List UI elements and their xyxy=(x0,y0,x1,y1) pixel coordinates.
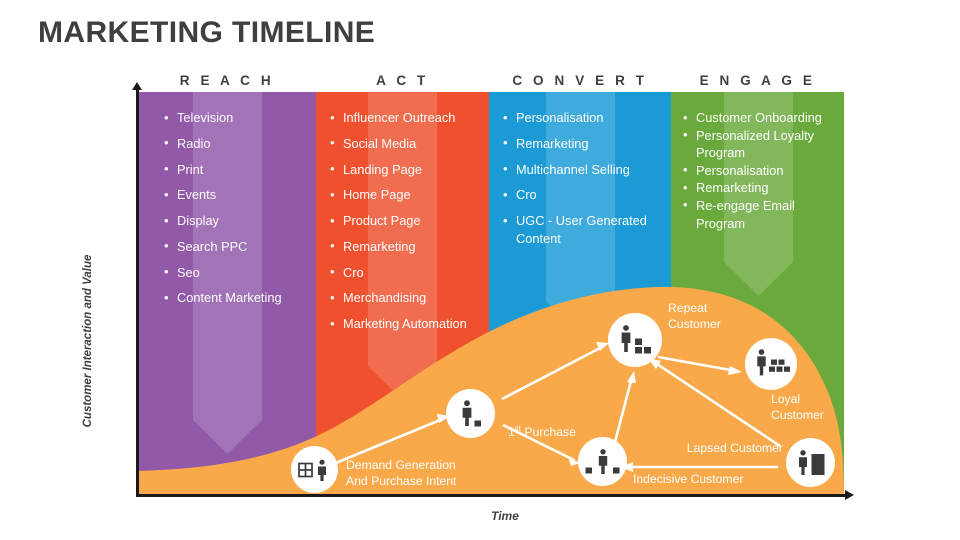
list-item: Landing Page xyxy=(330,161,495,179)
stage-header-engage: E N G A G E xyxy=(671,73,844,88)
list-item: Influencer Outreach xyxy=(330,109,495,127)
list-item: Customer Onboarding xyxy=(683,109,823,127)
list-item: Social Media xyxy=(330,135,495,153)
journey-node-demand[interactable] xyxy=(291,446,338,493)
stage-list-convert: Personalisation Remarketing Multichannel… xyxy=(503,109,661,256)
list-item: Remarketing xyxy=(503,135,661,153)
list-item: Marketing Automation xyxy=(330,315,495,333)
stage-header-reach: R E A C H xyxy=(138,73,316,88)
stage-list-reach: Television Radio Print Events Display Se… xyxy=(164,109,314,315)
journey-label-indecisive: Indecisive Customer xyxy=(633,472,803,488)
journey-node-loyal[interactable] xyxy=(745,338,797,390)
list-item: Remarketing xyxy=(330,238,495,256)
journey-label-loyal: Loyal Customer xyxy=(771,392,866,423)
list-item: Merchandising xyxy=(330,289,495,307)
list-item: Display xyxy=(164,212,314,230)
list-item: Content Marketing xyxy=(164,289,314,307)
stage-list-act: Influencer Outreach Social Media Landing… xyxy=(330,109,495,341)
x-axis-line xyxy=(136,494,848,497)
journey-node-indecisive[interactable] xyxy=(578,437,627,486)
list-item: Print xyxy=(164,161,314,179)
journey-label-purchase: 1st Purchase xyxy=(508,405,638,440)
list-item: Events xyxy=(164,186,314,204)
list-item: Re-engage Email Program xyxy=(683,197,823,232)
y-axis-arrow xyxy=(132,82,142,90)
person-two-boxes-icon xyxy=(584,448,622,476)
person-box-pyramid-icon xyxy=(752,348,790,380)
list-item: UGC - User Generated Content xyxy=(503,212,661,247)
list-item: Product Page xyxy=(330,212,495,230)
list-item: Remarketing xyxy=(683,179,823,197)
journey-label-lapsed: Lapsed Customer xyxy=(673,441,783,457)
purchase-word: Purchase xyxy=(521,425,576,439)
x-axis-arrow xyxy=(845,490,854,500)
list-item: Home Page xyxy=(330,186,495,204)
stage-header-convert: C O N V E R T xyxy=(489,73,671,88)
purchase-number: 1 xyxy=(508,425,515,439)
x-axis-label: Time xyxy=(0,509,960,523)
journey-label-repeat: Repeat Customer xyxy=(668,301,763,332)
list-item: Personalisation xyxy=(683,162,823,180)
journey-node-repeat[interactable] xyxy=(608,313,662,367)
list-item: Seo xyxy=(164,264,314,282)
journey-label-demand: Demand Generation And Purchase Intent xyxy=(346,458,526,489)
stage-list-engage: Customer Onboarding Personalized Loyalty… xyxy=(683,109,823,232)
person-one-box-icon xyxy=(454,399,488,429)
list-item: Television xyxy=(164,109,314,127)
stage-header-act: A C T xyxy=(316,73,489,88)
page-title: MARKETING TIMELINE xyxy=(38,16,375,50)
journey-node-purchase[interactable] xyxy=(446,389,495,438)
list-item: Cro xyxy=(330,264,495,282)
list-item: Search PPC xyxy=(164,238,314,256)
list-item: Personalisation xyxy=(503,109,661,127)
person-three-boxes-icon xyxy=(615,324,655,356)
list-item: Personalized Loyalty Program xyxy=(683,127,823,162)
person-window-icon xyxy=(298,458,332,482)
list-item: Multichannel Selling xyxy=(503,161,661,179)
y-axis-label: Customer Interaction and Value xyxy=(82,226,94,456)
list-item: Cro xyxy=(503,186,661,204)
list-item: Radio xyxy=(164,135,314,153)
y-axis-line xyxy=(136,88,139,497)
